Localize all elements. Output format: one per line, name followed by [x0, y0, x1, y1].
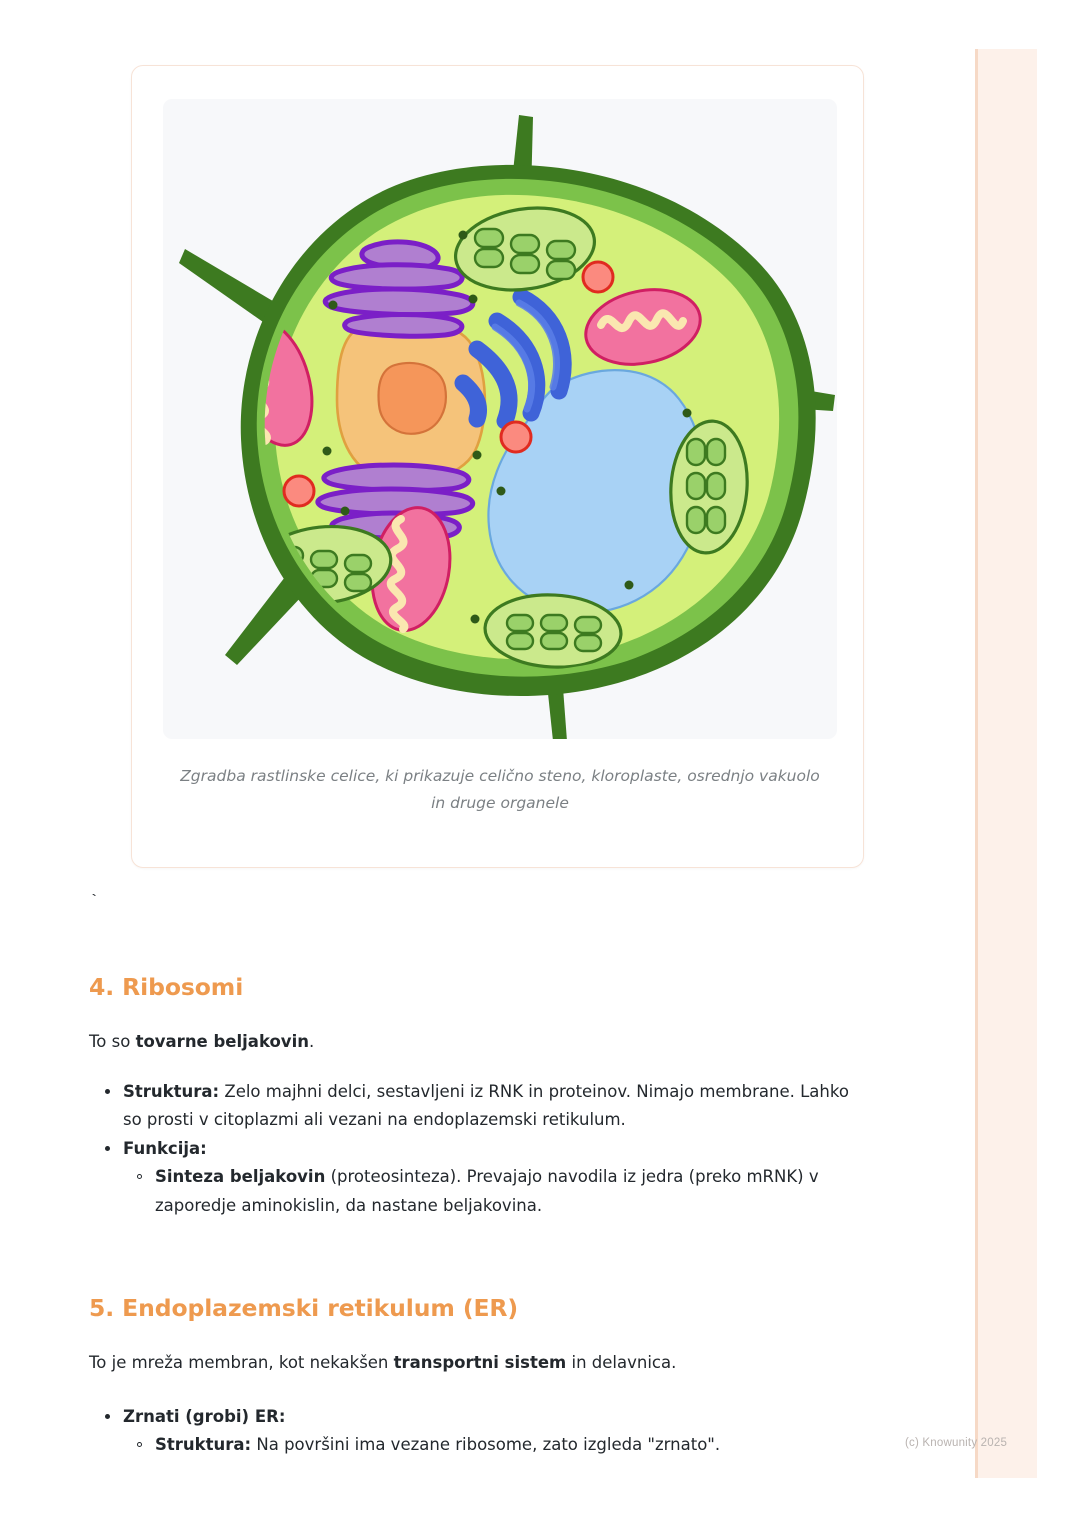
- bullet-circle-icon: [137, 1442, 142, 1447]
- list-item: Zrnati (grobi) ER: Struktura: Na površin…: [89, 1403, 859, 1460]
- heading-ribosomi: 4. Ribosomi: [89, 973, 243, 1001]
- sublist-item-label: Struktura:: [155, 1435, 251, 1454]
- intro-pre-text: To je mreža membran, kot nekakšen: [89, 1353, 394, 1372]
- list-item-text: Struktura: Zelo majhni delci, sestavljen…: [123, 1082, 849, 1129]
- document-content: Zgradba rastlinske celice, ki prikazuje …: [0, 0, 975, 1528]
- figure-caption: Zgradba rastlinske celice, ki prikazuje …: [179, 763, 821, 816]
- heading-endoplazemski-retikulum: 5. Endoplazemski retikulum (ER): [89, 1294, 518, 1322]
- paragraph-ribosomi-intro: To so tovarne beljakovin.: [89, 1029, 314, 1055]
- plant-cell-diagram-panel: [163, 99, 837, 739]
- sublist-item: Sinteza beljakovin (proteosinteza). Prev…: [123, 1163, 859, 1220]
- list-item-text: Funkcija:: [123, 1139, 207, 1158]
- figure-card: Zgradba rastlinske celice, ki prikazuje …: [131, 65, 864, 868]
- sublist-item-text: Struktura: Na površini ima vezane riboso…: [155, 1435, 720, 1454]
- list-item-text: Zrnati (grobi) ER:: [123, 1407, 285, 1426]
- list-item-label: Zrnati (grobi) ER:: [123, 1407, 285, 1426]
- bullet-circle-icon: [137, 1174, 142, 1179]
- nucleolus: [379, 363, 446, 434]
- intro-pre-text: To so: [89, 1032, 136, 1051]
- sublist-item: Struktura: Na površini ima vezane riboso…: [123, 1431, 859, 1459]
- sublist-zrnati-er: Struktura: Na površini ima vezane riboso…: [123, 1431, 859, 1459]
- list-item-body: Zelo majhni delci, sestavljeni iz RNK in…: [123, 1082, 849, 1129]
- intro-post-text: .: [309, 1032, 314, 1051]
- list-item: Struktura: Zelo majhni delci, sestavljen…: [89, 1078, 859, 1135]
- sublist-item-label: Sinteza beljakovin: [155, 1167, 325, 1186]
- right-decorative-band: [975, 49, 1037, 1478]
- intro-bold-text: transportni sistem: [394, 1353, 567, 1372]
- plant-cell-diagram-svg: [163, 99, 837, 739]
- bullet-disc-icon: [105, 1414, 110, 1419]
- nucleus: [337, 320, 485, 481]
- sublist-item-text: Sinteza beljakovin (proteosinteza). Prev…: [155, 1167, 819, 1214]
- sublist-item-body: Na površini ima vezane ribosome, zato iz…: [251, 1435, 720, 1454]
- list-item: Funkcija: Sinteza beljakovin (proteosint…: [89, 1135, 859, 1220]
- sublist-funkcija: Sinteza beljakovin (proteosinteza). Prev…: [123, 1163, 859, 1220]
- list-item-label: Funkcija:: [123, 1139, 207, 1158]
- paragraph-er-intro: To je mreža membran, kot nekakšen transp…: [89, 1350, 676, 1376]
- bullet-disc-icon: [105, 1146, 110, 1151]
- list-ribosomi: Struktura: Zelo majhni delci, sestavljen…: [89, 1078, 859, 1220]
- list-endoplazemski-retikulum: Zrnati (grobi) ER: Struktura: Na površin…: [89, 1403, 859, 1460]
- intro-bold-text: tovarne beljakovin: [136, 1032, 309, 1051]
- copyright-watermark: (c) Knowunity 2025: [905, 1437, 1007, 1449]
- bullet-disc-icon: [105, 1089, 110, 1094]
- stray-backtick-text: `: [89, 893, 99, 912]
- intro-post-text: in delavnica.: [566, 1353, 676, 1372]
- list-item-label: Struktura:: [123, 1082, 219, 1101]
